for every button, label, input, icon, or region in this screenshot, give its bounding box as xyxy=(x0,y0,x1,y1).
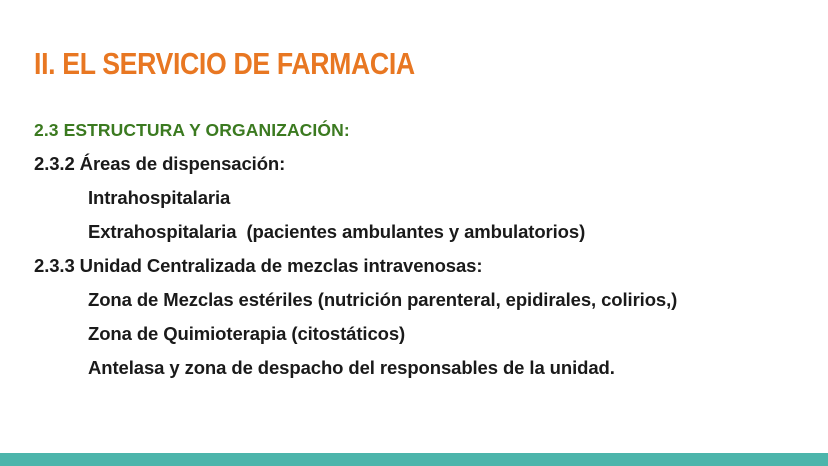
subsection-heading-2-3-3: 2.3.3 Unidad Centralizada de mezclas int… xyxy=(0,249,828,283)
page-title: II. EL SERVICIO DE FARMACIA xyxy=(34,48,415,81)
subsection-heading-2-3-2: 2.3.2 Áreas de dispensación: xyxy=(0,147,828,181)
list-item-intrahospitalaria: Intrahospitalaria xyxy=(0,181,828,215)
list-item-extrahospitalaria: Extrahospitalaria (pacientes ambulantes … xyxy=(0,215,828,249)
list-item-zona-quimioterapia: Zona de Quimioterapia (citostáticos) xyxy=(0,317,828,351)
section-heading-2-3: 2.3 ESTRUCTURA Y ORGANIZACIÓN: xyxy=(0,113,828,147)
list-item-antelasa-despacho: Antelasa y zona de despacho del responsa… xyxy=(0,351,828,385)
slide: II. EL SERVICIO DE FARMACIA 2.3 ESTRUCTU… xyxy=(0,0,828,466)
footer-accent-bar xyxy=(0,453,828,466)
slide-body: 2.3 ESTRUCTURA Y ORGANIZACIÓN: 2.3.2 Áre… xyxy=(0,113,828,385)
list-item-zona-mezclas-esteriles: Zona de Mezclas estériles (nutrición par… xyxy=(0,283,828,317)
